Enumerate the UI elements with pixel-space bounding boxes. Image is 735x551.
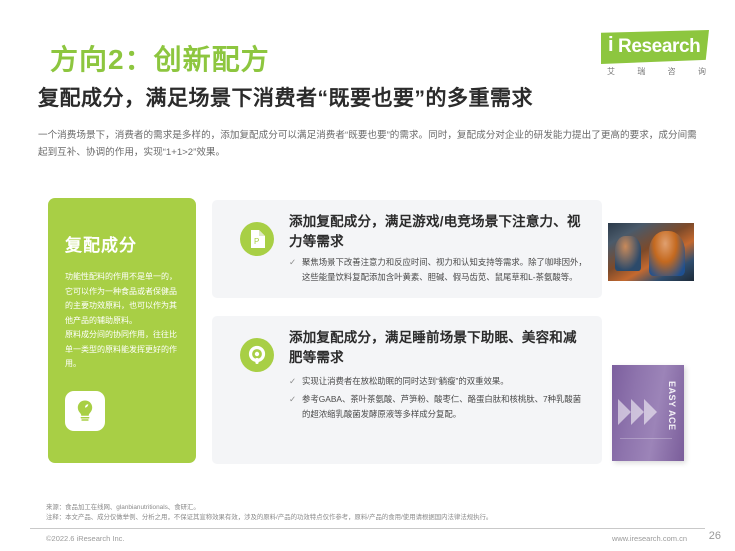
esports-gaming-photo <box>608 223 694 281</box>
iresearch-logo: i Research 艾 瑞 咨 询 <box>601 30 711 82</box>
target-icon <box>240 338 274 372</box>
logo-cn-char-4: 询 <box>698 66 707 77</box>
lightbulb-icon <box>65 391 105 431</box>
card-sleep-bullet-2: ✓ 参考GABA、茶叶茶氨酸、芦笋粉、酸枣仁、酪蛋白肽和核桃肽、7种乳酸菌的超浓… <box>289 392 589 422</box>
logo-i-letter: i <box>608 34 614 56</box>
chevron-right-icon <box>618 399 631 425</box>
footer-note: 注释：本文产品、成分仅做举例、分析之用，不保证其宣称效果有效，涉及的原料/产品的… <box>46 513 492 523</box>
logo-cn-char-1: 艾 <box>607 66 616 77</box>
footer-website: www.iresearch.com.cn <box>612 534 687 543</box>
page-description: 一个消费场景下，消费者的需求是多样的，添加复配成分可以满足消费者“既要也要”的需… <box>38 127 698 161</box>
card-gaming: P 添加复配成分，满足游戏/电竞场景下注意力、视力等需求 ✓ 聚焦场景下改善注意… <box>212 200 602 298</box>
logo-cn-char-3: 咨 <box>668 66 677 77</box>
product-brand-text: EASY ACE <box>667 381 677 431</box>
card-gaming-heading: 添加复配成分，满足游戏/电竞场景下注意力、视力等需求 <box>289 212 589 252</box>
check-icon: ✓ <box>289 374 296 389</box>
footer-copyright: ©2022.6 iResearch Inc. <box>46 534 125 543</box>
card-sleep: 添加复配成分，满足睡前场景下助眠、美容和减肥等需求 ✓ 实现让消费者在放松助眠的… <box>212 316 602 464</box>
page-number: 26 <box>709 530 721 542</box>
card-sleep-bullet-1-text: 实现让消费者在放松助眠的同时达到“躺瘦”的双重效果。 <box>302 376 509 386</box>
card-sleep-bullet-1: ✓ 实现让消费者在放松助眠的同时达到“躺瘦”的双重效果。 <box>289 374 589 389</box>
check-icon: ✓ <box>289 392 296 407</box>
card-gaming-bullet-1: ✓ 聚焦场景下改善注意力和反应时间、视力和认知支持等需求。除了咖啡因外，这些能量… <box>289 255 589 285</box>
logo-cn-char-2: 瑞 <box>637 66 646 77</box>
target-icon-glyph <box>247 345 267 365</box>
card-gaming-bullet-1-text: 聚焦场景下改善注意力和反应时间、视力和认知支持等需求。除了咖啡因外，这些能量饮料… <box>302 257 587 282</box>
easy-ace-product-photo: EASY ACE <box>612 365 684 461</box>
card-sleep-heading: 添加复配成分，满足睡前场景下助眠、美容和减肥等需求 <box>289 328 589 368</box>
concept-panel-body: 功能性配料的作用不是单一的，它可以作为一种食品或者保健品的主要功效原料，也可以作… <box>65 270 183 372</box>
footer-source-block: 来源：食品加工在线网、glanbianutritionals、食研汇。 注释：本… <box>46 503 492 522</box>
page-title: 方向2：创新配方 <box>50 38 270 78</box>
card-sleep-bullets: ✓ 实现让消费者在放松助眠的同时达到“躺瘦”的双重效果。 ✓ 参考GABA、茶叶… <box>289 374 589 425</box>
concept-paragraph-1: 功能性配料的作用不是单一的，它可以作为一种食品或者保健品的主要功效原料，也可以作… <box>65 270 183 328</box>
lightbulb-icon-glyph <box>74 399 96 423</box>
document-icon-glyph: P <box>249 230 265 248</box>
chevron-right-icon <box>644 399 657 425</box>
page-subtitle: 复配成分，满足场景下消费者“既要也要”的多重需求 <box>38 82 533 112</box>
logo-research-text: Research <box>618 35 700 59</box>
slide-root: 方向2：创新配方 复配成分，满足场景下消费者“既要也要”的多重需求 一个消费场景… <box>0 0 735 551</box>
footer-divider <box>30 528 705 529</box>
product-divider <box>620 438 672 439</box>
check-icon: ✓ <box>289 255 296 270</box>
concept-panel: 复配成分 功能性配料的作用不是单一的，它可以作为一种食品或者保健品的主要功效原料… <box>48 198 196 463</box>
document-icon: P <box>240 222 274 256</box>
concept-panel-title: 复配成分 <box>65 231 137 256</box>
concept-paragraph-2: 原料成分间的协同作用，往往比单一类型的原料能发挥更好的作用。 <box>65 328 183 372</box>
footer-source: 来源：食品加工在线网、glanbianutritionals、食研汇。 <box>46 503 492 513</box>
svg-text:P: P <box>254 237 259 246</box>
chevron-right-icon <box>631 399 644 425</box>
logo-chinese-name: 艾 瑞 咨 询 <box>607 66 707 77</box>
card-sleep-bullet-2-text: 参考GABA、茶叶茶氨酸、芦笋粉、酸枣仁、酪蛋白肽和核桃肽、7种乳酸菌的超浓缩乳… <box>302 394 581 419</box>
card-gaming-bullets: ✓ 聚焦场景下改善注意力和反应时间、视力和认知支持等需求。除了咖啡因外，这些能量… <box>289 255 589 288</box>
